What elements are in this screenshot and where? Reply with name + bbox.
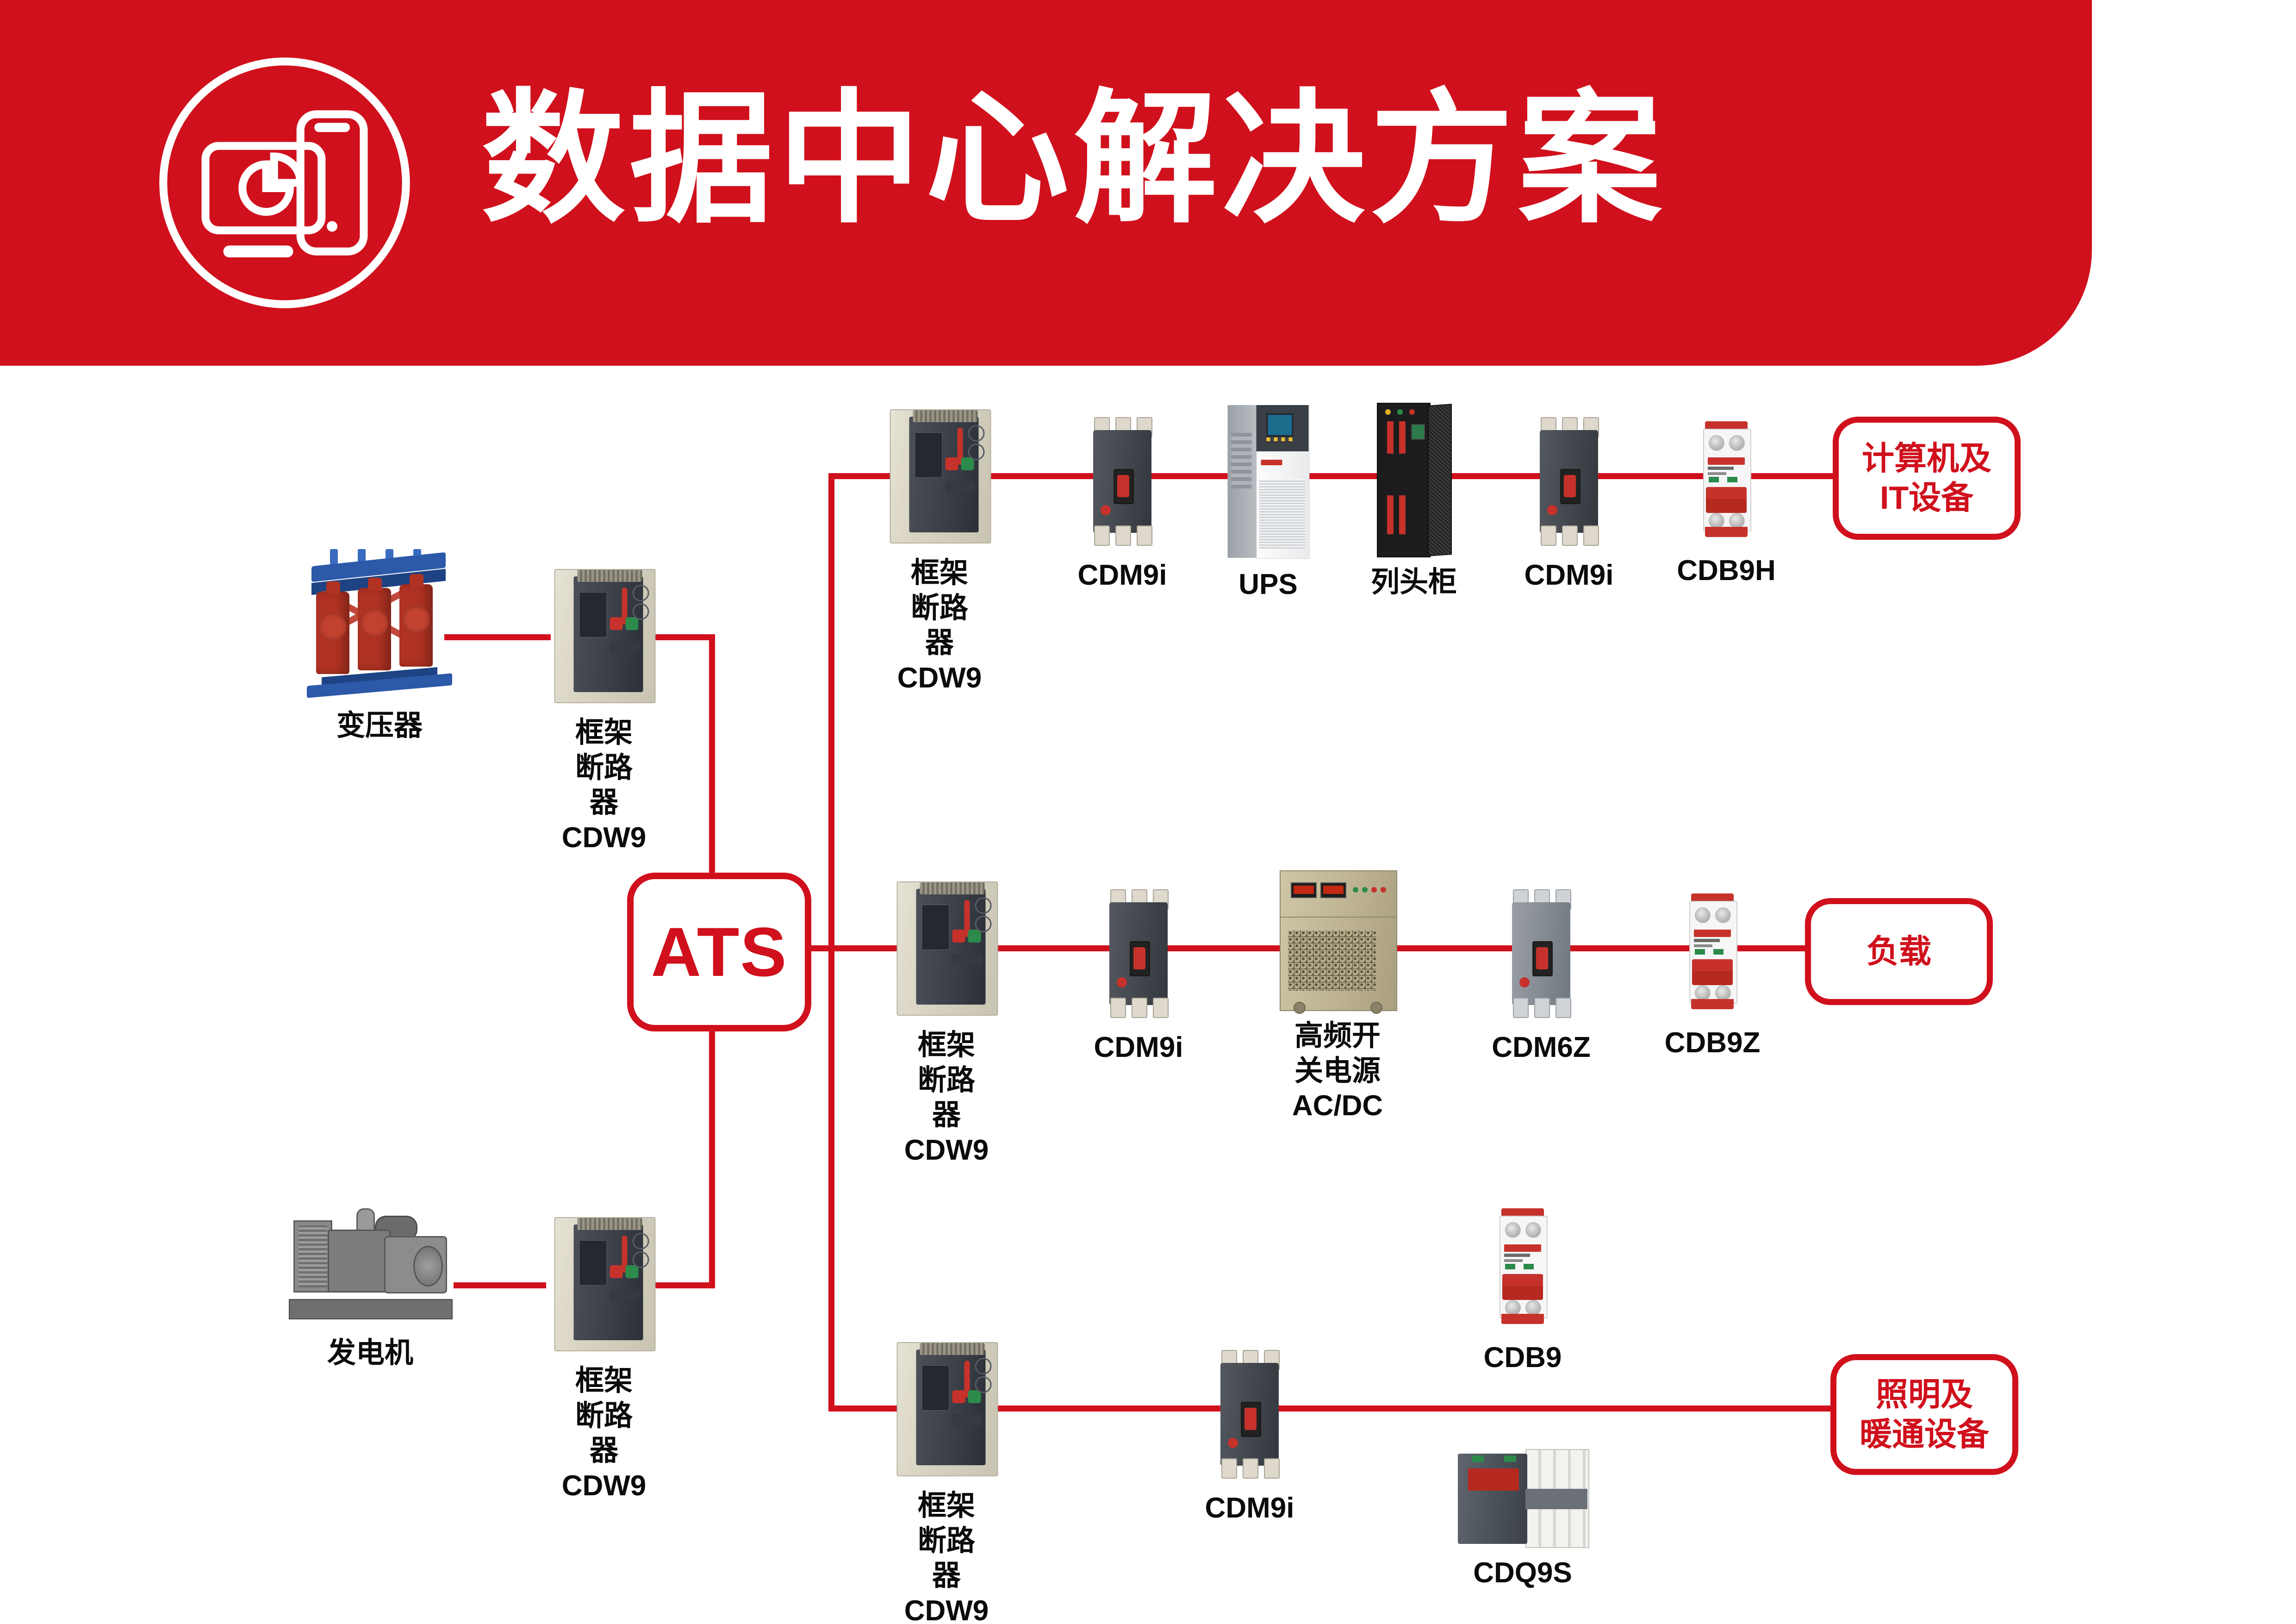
acb-art — [897, 875, 996, 1018]
device-label: 框架断路器 CDW9 — [904, 1028, 989, 1168]
wire-left-bus-upper — [709, 634, 715, 893]
generator-art — [287, 1204, 454, 1319]
mcb-art — [1685, 893, 1740, 1009]
mccb-art — [1104, 887, 1173, 1021]
device-label: 高频开关电源 AC/DC — [1292, 1018, 1383, 1124]
device-label: 框架断路器 CDW9 — [562, 1363, 647, 1504]
mccb-art — [1506, 887, 1576, 1021]
device-label: CDB9H — [1677, 553, 1776, 588]
wire-left-bus-lower — [709, 1000, 715, 1287]
page-title: 数据中心解决方案 — [481, 69, 1666, 249]
acb-art — [554, 562, 654, 706]
mcb-art — [1495, 1208, 1550, 1324]
device-label: CDB9Z — [1665, 1025, 1761, 1061]
acb-art — [897, 1336, 996, 1479]
device-label: CDM9i — [1205, 1491, 1294, 1526]
output-badge-it: 计算机及 IT设备 — [1833, 417, 2021, 540]
device-label: CDQ9S — [1473, 1555, 1572, 1591]
device-label: CDM9i — [1078, 558, 1167, 593]
output-badge-load: 负载 — [1805, 898, 1993, 1005]
cabinet-art — [1377, 403, 1451, 556]
ats-label: ATS — [651, 912, 788, 992]
wire-generator-to-acb2 — [454, 1282, 546, 1288]
transfer-switch-art — [1458, 1449, 1587, 1546]
transformer-art — [303, 556, 456, 694]
mccb-art — [1088, 414, 1157, 549]
acb-art — [890, 403, 989, 546]
output-badge-hvac: 照明及 暖通设备 — [1830, 1354, 2018, 1475]
output-label: 照明及 暖通设备 — [1860, 1375, 1989, 1454]
rectifier-art — [1280, 870, 1395, 1009]
device-label: 列头柜 — [1371, 565, 1457, 600]
acb-art — [554, 1211, 654, 1354]
device-label: CDM6Z — [1492, 1030, 1591, 1065]
page-header: 数据中心解决方案 — [0, 0, 2092, 366]
device-label: 框架断路器 CDW9 — [897, 556, 982, 696]
device-label: CDM9i — [1094, 1030, 1183, 1065]
device-label: 框架断路器 CDW9 — [562, 715, 647, 856]
output-label: 计算机及 IT设备 — [1862, 439, 1991, 518]
wire-main-distribution-bus — [828, 473, 834, 1408]
device-label: 发电机 — [327, 1336, 413, 1371]
device-label: 框架断路器 CDW9 — [904, 1488, 989, 1624]
output-label: 负载 — [1867, 932, 1931, 971]
ups-art — [1228, 405, 1309, 558]
device-label: CDB9 — [1484, 1340, 1562, 1375]
device-label: CDM9i — [1524, 558, 1614, 593]
monitor-chart-tablet-icon — [153, 51, 417, 315]
device-label: 变压器 — [336, 708, 423, 743]
device-label: UPS — [1238, 567, 1297, 602]
ats-transfer-box[interactable]: ATS — [627, 873, 811, 1031]
mccb-art — [1215, 1347, 1284, 1481]
wire-transformer-to-acb1 — [444, 634, 551, 640]
mccb-art — [1534, 414, 1604, 549]
mcb-art — [1699, 421, 1754, 537]
diagram-page: 数据中心解决方案 ATS — [0, 0, 2296, 1624]
